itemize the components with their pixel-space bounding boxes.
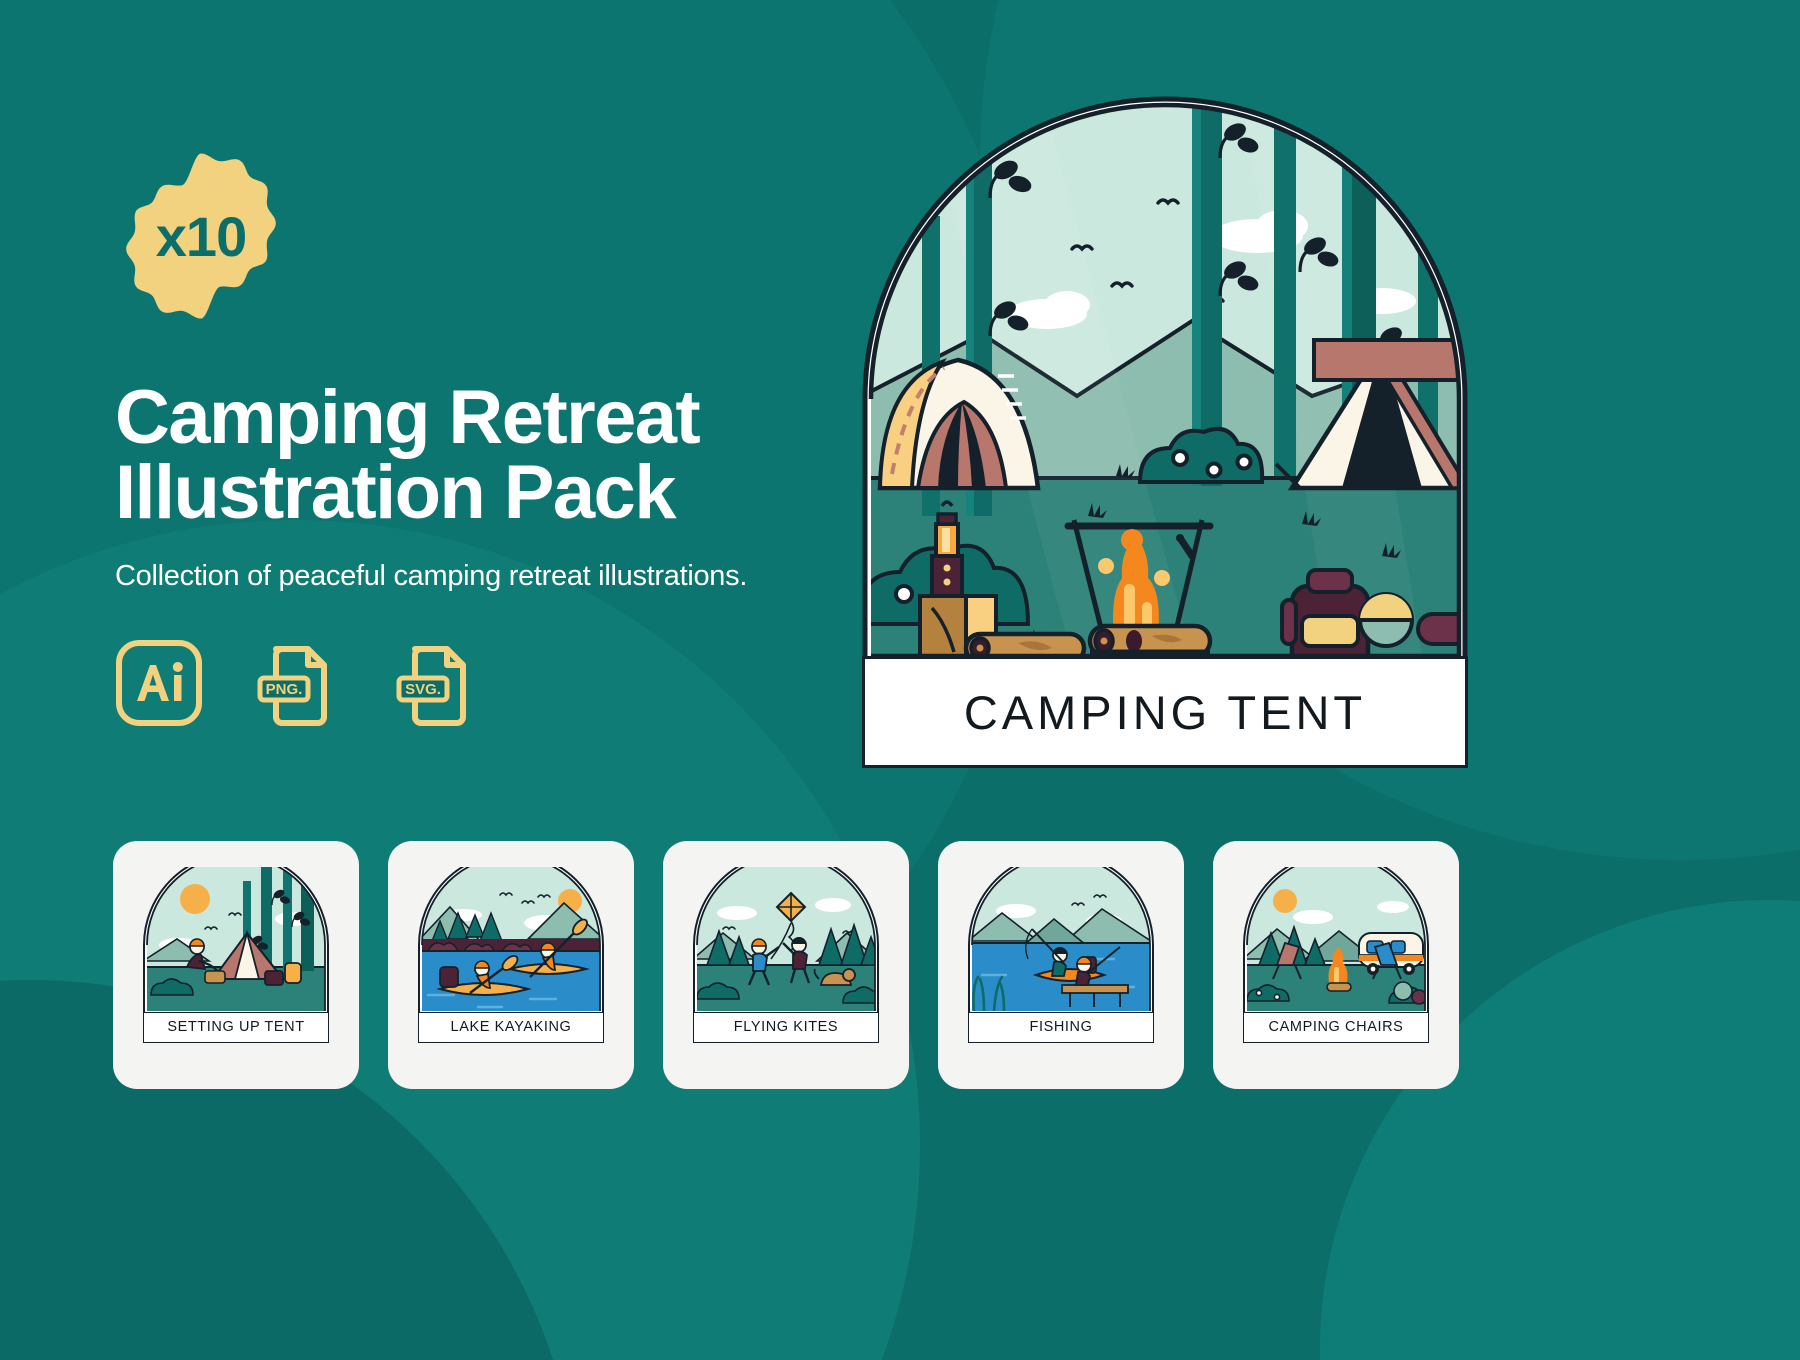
hero-title: CAMPING TENT <box>964 685 1366 740</box>
svg-file-icon: SVG. <box>393 639 481 727</box>
hero-illustration-card[interactable]: CAMPING TENT <box>862 96 1468 768</box>
ai-file-icon <box>115 639 203 727</box>
thumbnail-card-fishing[interactable]: FISHING <box>938 841 1184 1089</box>
thumbnail-label-plate: CAMPING CHAIRS <box>1243 1011 1429 1043</box>
format-badge-svg-label: SVG. <box>405 681 441 698</box>
thumbnail-label: SETTING UP TENT <box>167 1019 304 1035</box>
setting-up-tent-illustration <box>143 867 329 1013</box>
fishing-illustration <box>968 867 1154 1013</box>
count-badge: x10 <box>115 150 287 322</box>
thumbnail-label: CAMPING CHAIRS <box>1269 1019 1404 1035</box>
thumbnail-label-plate: LAKE KAYAKING <box>418 1011 604 1043</box>
camping-chairs-illustration <box>1243 867 1429 1013</box>
thumbnail-label-plate: FISHING <box>968 1011 1154 1043</box>
hero-title-plate: CAMPING TENT <box>862 656 1468 768</box>
png-file-icon: PNG. <box>254 639 342 727</box>
flying-kites-illustration <box>693 867 879 1013</box>
thumbnail-label: FLYING KITES <box>734 1019 838 1035</box>
format-badge-ai[interactable] <box>115 639 203 727</box>
format-badge-png[interactable]: PNG. <box>254 639 342 727</box>
thumbnail-label-plate: SETTING UP TENT <box>143 1011 329 1043</box>
file-format-list: PNG. SVG. <box>115 639 875 727</box>
format-badge-svg[interactable]: SVG. <box>393 639 481 727</box>
hero-text-column: x10 Camping Retreat Illustration Pack Co… <box>115 150 875 727</box>
page-subtitle: Collection of peaceful camping retreat i… <box>115 560 875 593</box>
thumbnail-label: LAKE KAYAKING <box>451 1019 572 1035</box>
count-badge-label: x10 <box>156 204 246 269</box>
thumbnail-label-plate: FLYING KITES <box>693 1011 879 1043</box>
thumbnail-card-lake-kayaking[interactable]: LAKE KAYAKING <box>388 841 634 1089</box>
format-badge-png-label: PNG. <box>266 681 303 698</box>
page-title: Camping Retreat Illustration Pack <box>115 380 875 530</box>
thumbnail-card-setting-up-tent[interactable]: SETTING UP TENT <box>113 841 359 1089</box>
thumbnail-grid: SETTING UP TENT <box>113 841 1688 1089</box>
page-title-line-2: Illustration Pack <box>115 455 875 530</box>
thumbnail-label: FISHING <box>1029 1019 1092 1035</box>
lake-kayaking-illustration <box>418 867 604 1013</box>
page-title-line-1: Camping Retreat <box>115 375 699 460</box>
thumbnail-card-flying-kites[interactable]: FLYING KITES <box>663 841 909 1089</box>
thumbnail-card-camping-chairs[interactable]: CAMPING CHAIRS <box>1213 841 1459 1089</box>
